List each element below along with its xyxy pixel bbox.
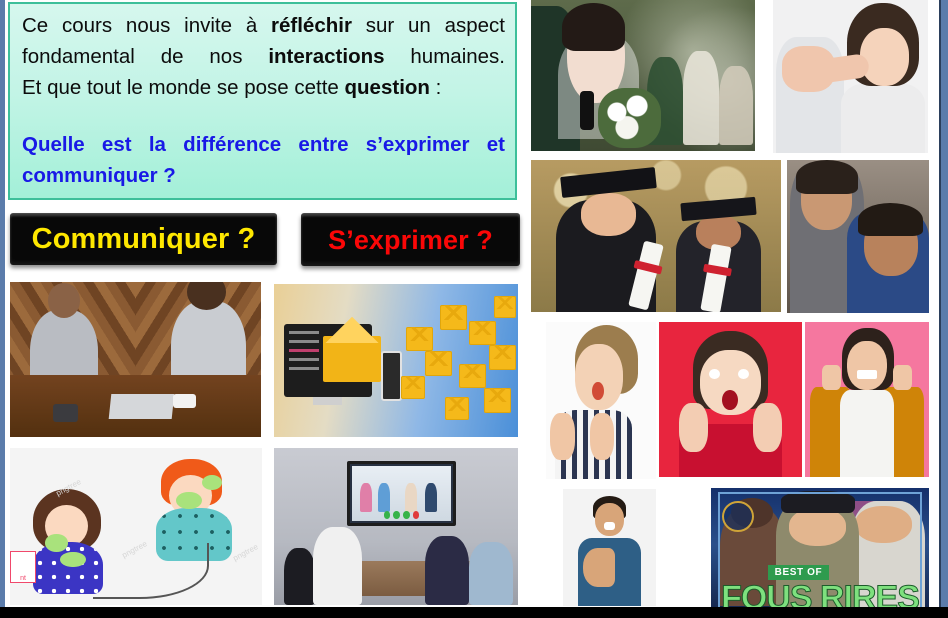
- face: [595, 503, 625, 536]
- remote-participant: [378, 483, 390, 512]
- remote-participant: [360, 483, 372, 512]
- person-left-head: [48, 283, 81, 318]
- bottom-black-bar: [0, 607, 948, 618]
- image-man-pointing-laughing: [563, 489, 656, 606]
- person-right-head: [187, 282, 226, 310]
- intro-line-2: fondamental de nos interactions humaines…: [22, 41, 505, 72]
- white-turtleneck: [840, 390, 895, 477]
- phone-receiver-icon: [60, 552, 85, 568]
- raised-hand: [550, 413, 574, 460]
- best-of-badge: BEST OF: [768, 565, 830, 580]
- raised-hand: [590, 413, 614, 460]
- call-control-buttons: [384, 511, 419, 519]
- pointing-arm: [583, 548, 615, 588]
- envelope-icon: [401, 376, 425, 399]
- label-plate-exprimer: S’exprimer ?: [301, 213, 520, 266]
- image-bride-with-microphone: [531, 0, 755, 151]
- watermark-pngtree: pngtree: [231, 543, 259, 564]
- bride-hair: [562, 3, 625, 51]
- open-mouth: [722, 390, 738, 410]
- photo-surface: [805, 322, 929, 477]
- right-edge-strip-inner: [939, 0, 941, 618]
- phone-receiver-icon: [202, 475, 222, 491]
- attendee: [425, 536, 469, 605]
- image-two-people-talking-laptop: [10, 282, 261, 437]
- laptop: [109, 394, 174, 419]
- image-fous-rires-banner: BEST OF FOUS RIRES: [711, 488, 929, 614]
- photo-surface: [10, 282, 261, 437]
- phone-receiver-icon: [176, 492, 201, 509]
- remote-room-view: [352, 466, 450, 522]
- flower-bouquet: [598, 88, 661, 148]
- main-graduate-face: [581, 193, 636, 236]
- intro-line-1-part-c: sur un aspect: [352, 14, 505, 37]
- intro-line-3-part-a: Et que tout le monde se pose cette: [22, 76, 345, 99]
- comforter-face: [860, 28, 910, 86]
- intro-line-2-part-c: humaines.: [385, 45, 505, 68]
- envelope-icon: [406, 327, 433, 351]
- envelope-icon: [494, 296, 516, 317]
- image-woman-excited-surprise: [546, 322, 656, 479]
- watermark-stamp: nt: [10, 551, 36, 583]
- photo-surface: [563, 489, 656, 606]
- label-exprimer-text: S’exprimer ?: [328, 225, 493, 256]
- image-email-envelopes-world-map: [274, 284, 518, 437]
- white-cup: [173, 394, 196, 408]
- image-crying-children: [787, 160, 929, 313]
- remote-participant: [425, 483, 437, 512]
- right-edge-strip: [941, 0, 948, 618]
- image-woman-comforting-shoulder: [773, 0, 928, 153]
- photo-surface: [773, 0, 928, 153]
- intro-question: Quelle est la différence entre s’exprime…: [22, 129, 505, 191]
- clenched-fist: [893, 365, 912, 390]
- envelope-icon: [425, 351, 452, 375]
- share-icon: [403, 511, 410, 519]
- end-call-icon: [413, 511, 420, 519]
- white-shirt: [841, 83, 925, 153]
- crying-boy-hair: [858, 203, 923, 237]
- envelope-icon: [484, 388, 511, 412]
- open-envelope-icon: [323, 336, 382, 382]
- face: [847, 341, 887, 391]
- monitor-stand: [313, 397, 342, 405]
- intro-question-line-1: Quelle est la différence entre s’exprime…: [22, 129, 505, 160]
- image-woman-angry-pink: [805, 322, 929, 477]
- hand-on-cheek: [679, 403, 708, 453]
- image-woman-shocked-red: [659, 322, 802, 477]
- envelope-icon: [445, 397, 469, 420]
- intro-keyword-question: question: [345, 76, 430, 99]
- dark-mug: [53, 404, 78, 421]
- intro-keyword-reflechir: réfléchir: [271, 14, 352, 37]
- intro-keyword-interactions: interactions: [268, 45, 384, 68]
- remote-participant: [405, 483, 417, 512]
- photo-surface: [274, 284, 518, 437]
- phone-cord: [93, 543, 208, 598]
- envelope-icon: [489, 345, 516, 369]
- photo-surface: [787, 160, 929, 313]
- photo-surface: pngtree pngtree pngtree nt: [10, 448, 262, 605]
- crying-girl-hair: [796, 160, 858, 194]
- image-cartoon-kids-string-phones: pngtree pngtree pngtree nt: [10, 448, 262, 605]
- intro-question-line-2: communiquer ?: [22, 160, 505, 191]
- envelope-icon: [459, 364, 486, 388]
- laughing-mouth: [604, 522, 615, 530]
- slide-canvas: Ce cours nous invite à réfléchir sur un …: [0, 0, 948, 618]
- microphone: [580, 91, 593, 130]
- photo-surface: [274, 448, 518, 605]
- image-graduate-wiping-tear: [531, 160, 781, 312]
- clenched-fist: [822, 365, 841, 390]
- envelope-icon: [469, 321, 496, 345]
- wall-screen: [347, 461, 455, 527]
- wedding-guest: [683, 51, 719, 145]
- image-video-conference-meeting: [274, 448, 518, 605]
- photo-surface: [659, 322, 802, 477]
- tablet-device: [381, 351, 402, 401]
- intro-line-3-part-c: :: [430, 76, 441, 99]
- intro-line-1: Ce cours nous invite à réfléchir sur un …: [22, 10, 505, 41]
- phone-receiver-icon: [45, 534, 68, 551]
- attendee: [313, 527, 362, 606]
- mic-icon: [393, 511, 400, 519]
- intro-text-card: Ce cours nous invite à réfléchir sur un …: [8, 2, 517, 200]
- attendee: [469, 542, 513, 605]
- photo-surface: [546, 322, 656, 479]
- intro-line-1-part-a: Ce cours nous invite à: [22, 14, 271, 37]
- envelope-icon: [440, 305, 467, 329]
- intro-line-3: Et que tout le monde se pose cette quest…: [22, 72, 505, 103]
- photo-surface: [531, 160, 781, 312]
- label-communiquer-text: Communiquer ?: [32, 223, 256, 256]
- face: [575, 344, 623, 410]
- photo-surface: [531, 0, 755, 151]
- label-plate-communiquer: Communiquer ?: [10, 213, 277, 265]
- video-icon: [384, 511, 391, 519]
- photo-surface: BEST OF FOUS RIRES: [711, 488, 929, 614]
- attendee: [284, 548, 316, 605]
- left-edge-strip: [0, 0, 5, 618]
- code-lines: [289, 331, 319, 334]
- wedding-guest: [719, 66, 753, 145]
- gritted-teeth: [857, 370, 877, 379]
- intro-line-2-part-a: fondamental de nos: [22, 45, 268, 68]
- hand-on-cheek: [753, 403, 782, 453]
